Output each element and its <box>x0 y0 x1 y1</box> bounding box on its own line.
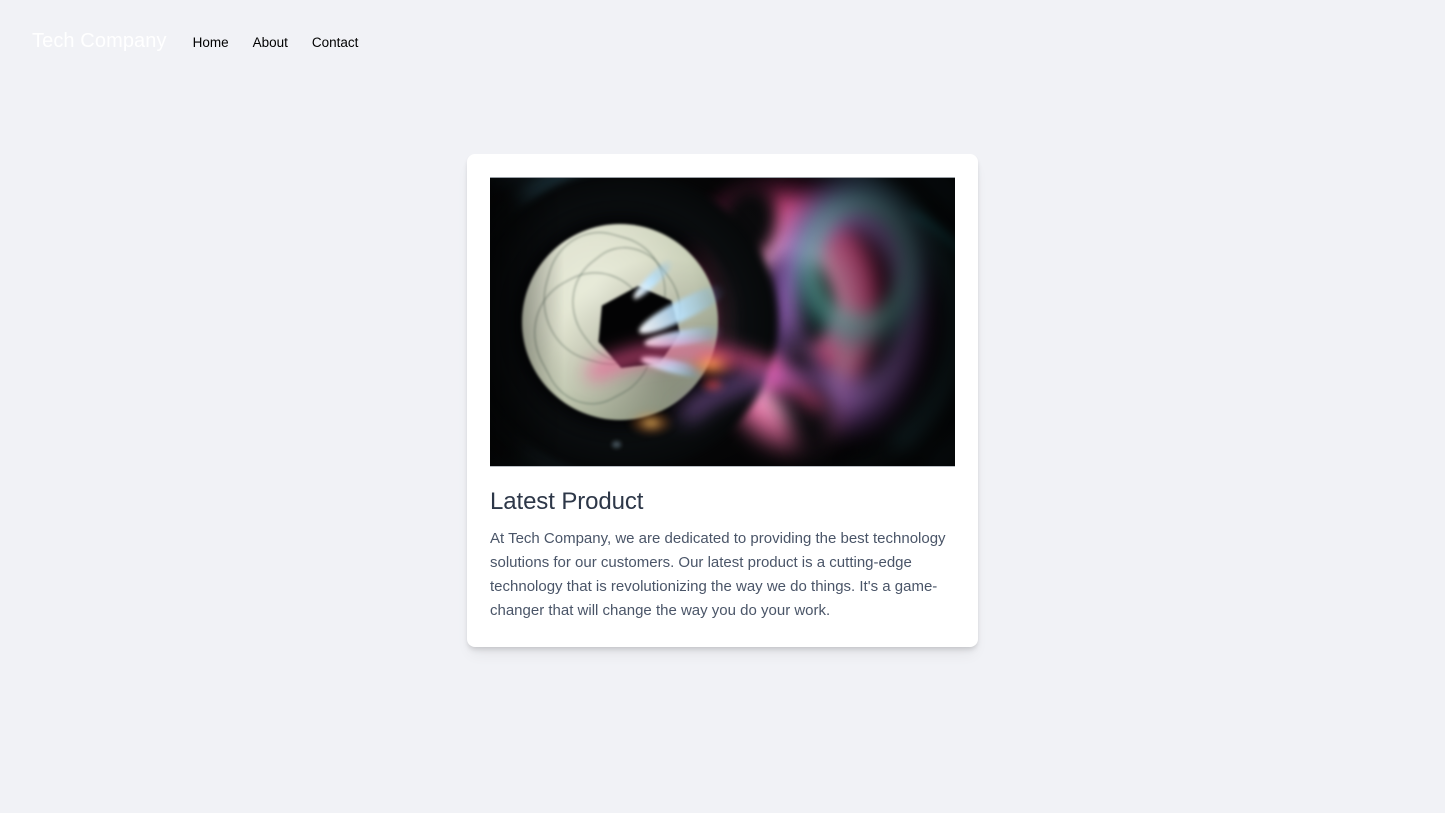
nav-link-about[interactable]: About <box>253 35 288 50</box>
nav-link-home[interactable]: Home <box>193 35 229 50</box>
camera-lens-image <box>490 177 955 467</box>
nav-link-contact[interactable]: Contact <box>312 35 359 50</box>
product-card-description: At Tech Company, we are dedicated to pro… <box>490 527 955 624</box>
brand-logo-text[interactable]: Tech Company <box>32 30 167 53</box>
nav-links-group: Home About Contact <box>193 33 359 50</box>
main-content: Latest Product At Tech Company, we are d… <box>0 82 1445 647</box>
lens-body-dot <box>612 441 621 448</box>
product-card: Latest Product At Tech Company, we are d… <box>467 154 978 647</box>
main-navbar: Tech Company Home About Contact <box>0 0 1445 82</box>
product-card-title: Latest Product <box>490 488 955 516</box>
lens-photo-layers <box>490 178 955 466</box>
